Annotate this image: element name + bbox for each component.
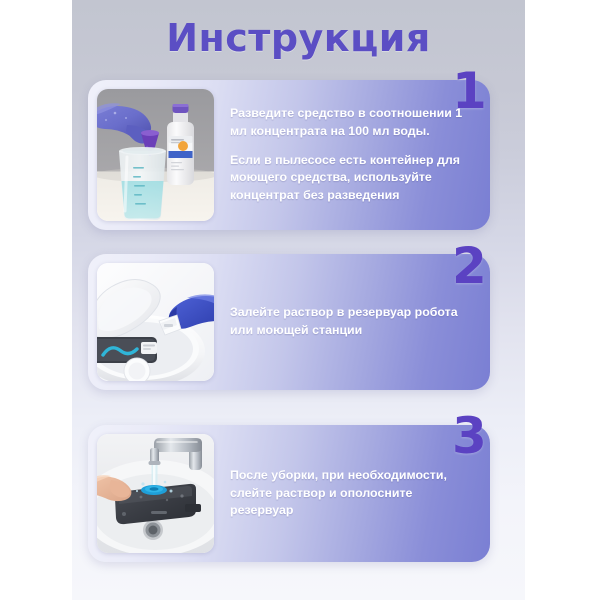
step-text-3: После уборки, при необходимости, слейте … [230, 467, 481, 520]
step-text-2: Залейте раствор в резервуар робота или м… [230, 304, 481, 339]
step-1-paragraph-1: Разведите средство в соотношении 1 мл ко… [230, 105, 475, 140]
step-card-1: Рука в синей перчатке наливает концентра… [88, 80, 490, 230]
step-card-3: Рука ополаскивает тёмный резервуар под к… [88, 425, 490, 562]
instruction-infographic: Инструкция 1 [0, 0, 600, 600]
step-card-2: Рука в синей перчатке заливает раствор в… [88, 254, 490, 390]
step-3-paragraph-1: После уборки, при необходимости, слейте … [230, 467, 475, 520]
page-title: Инструкция [72, 16, 525, 60]
step-number-3: 3 [452, 411, 487, 461]
step-number-1: 1 [452, 66, 487, 116]
step-number-2: 2 [452, 241, 487, 291]
step-2-paragraph-1: Залейте раствор в резервуар робота или м… [230, 304, 475, 339]
step-photo-3: Рука ополаскивает тёмный резервуар под к… [97, 434, 214, 553]
step-1-paragraph-2: Если в пылесосе есть контейнер для моюще… [230, 152, 475, 205]
step-text-1: Разведите средство в соотношении 1 мл ко… [230, 105, 481, 204]
step-photo-2: Рука в синей перчатке заливает раствор в… [97, 263, 214, 381]
step-photo-1: Рука в синей перчатке наливает концентра… [97, 89, 214, 221]
